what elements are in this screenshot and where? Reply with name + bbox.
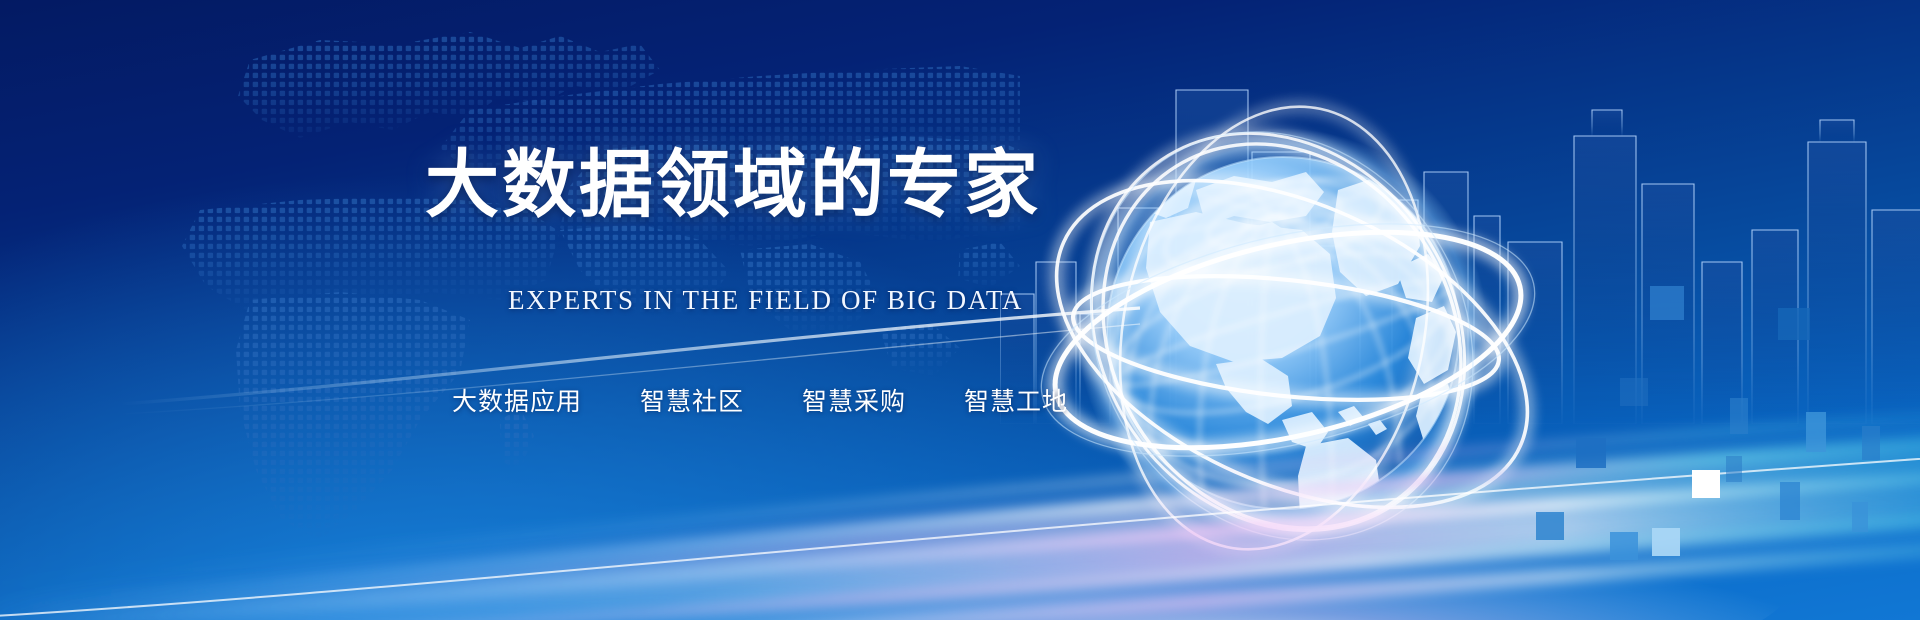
square-tile bbox=[1862, 426, 1880, 460]
page-subtitle: EXPERTS IN THE FIELD OF BIG DATA bbox=[508, 285, 1023, 316]
square-tile bbox=[1576, 438, 1606, 468]
square-tile bbox=[1536, 512, 1564, 540]
square-tile bbox=[1778, 308, 1810, 340]
globe-wireframe bbox=[1072, 140, 1493, 525]
keyword-nav: 大数据应用 智慧社区 智慧采购 智慧工地 bbox=[452, 382, 1068, 418]
globe-landmasses bbox=[1138, 164, 1458, 574]
square-tile bbox=[1730, 398, 1748, 434]
square-tile bbox=[1806, 412, 1826, 452]
keyword-item-big-data-application[interactable]: 大数据应用 bbox=[452, 382, 582, 418]
square-tile bbox=[1610, 532, 1638, 560]
keyword-item-smart-construction-site[interactable]: 智慧工地 bbox=[964, 382, 1068, 418]
square-tile bbox=[1852, 502, 1868, 532]
square-tile bbox=[1726, 456, 1742, 482]
globe-graphic bbox=[1020, 40, 1580, 580]
square-tile-highlight bbox=[1692, 470, 1720, 498]
square-tile bbox=[1650, 286, 1684, 320]
keyword-item-smart-community[interactable]: 智慧社区 bbox=[640, 382, 744, 418]
page-title: 大数据领域的专家 bbox=[425, 146, 1041, 224]
scattered-squares-decoration bbox=[1480, 250, 1920, 590]
banner-copy: 大数据领域的专家 EXPERTS IN THE FIELD OF BIG DAT… bbox=[0, 0, 1100, 620]
square-tile bbox=[1620, 378, 1648, 406]
city-skyline-lineart bbox=[1000, 0, 1920, 424]
square-tile bbox=[1652, 528, 1680, 556]
keyword-item-smart-procurement[interactable]: 智慧采购 bbox=[802, 382, 906, 418]
square-tile bbox=[1780, 482, 1800, 520]
big-data-hero-banner: 大数据领域的专家 EXPERTS IN THE FIELD OF BIG DAT… bbox=[0, 0, 1920, 620]
